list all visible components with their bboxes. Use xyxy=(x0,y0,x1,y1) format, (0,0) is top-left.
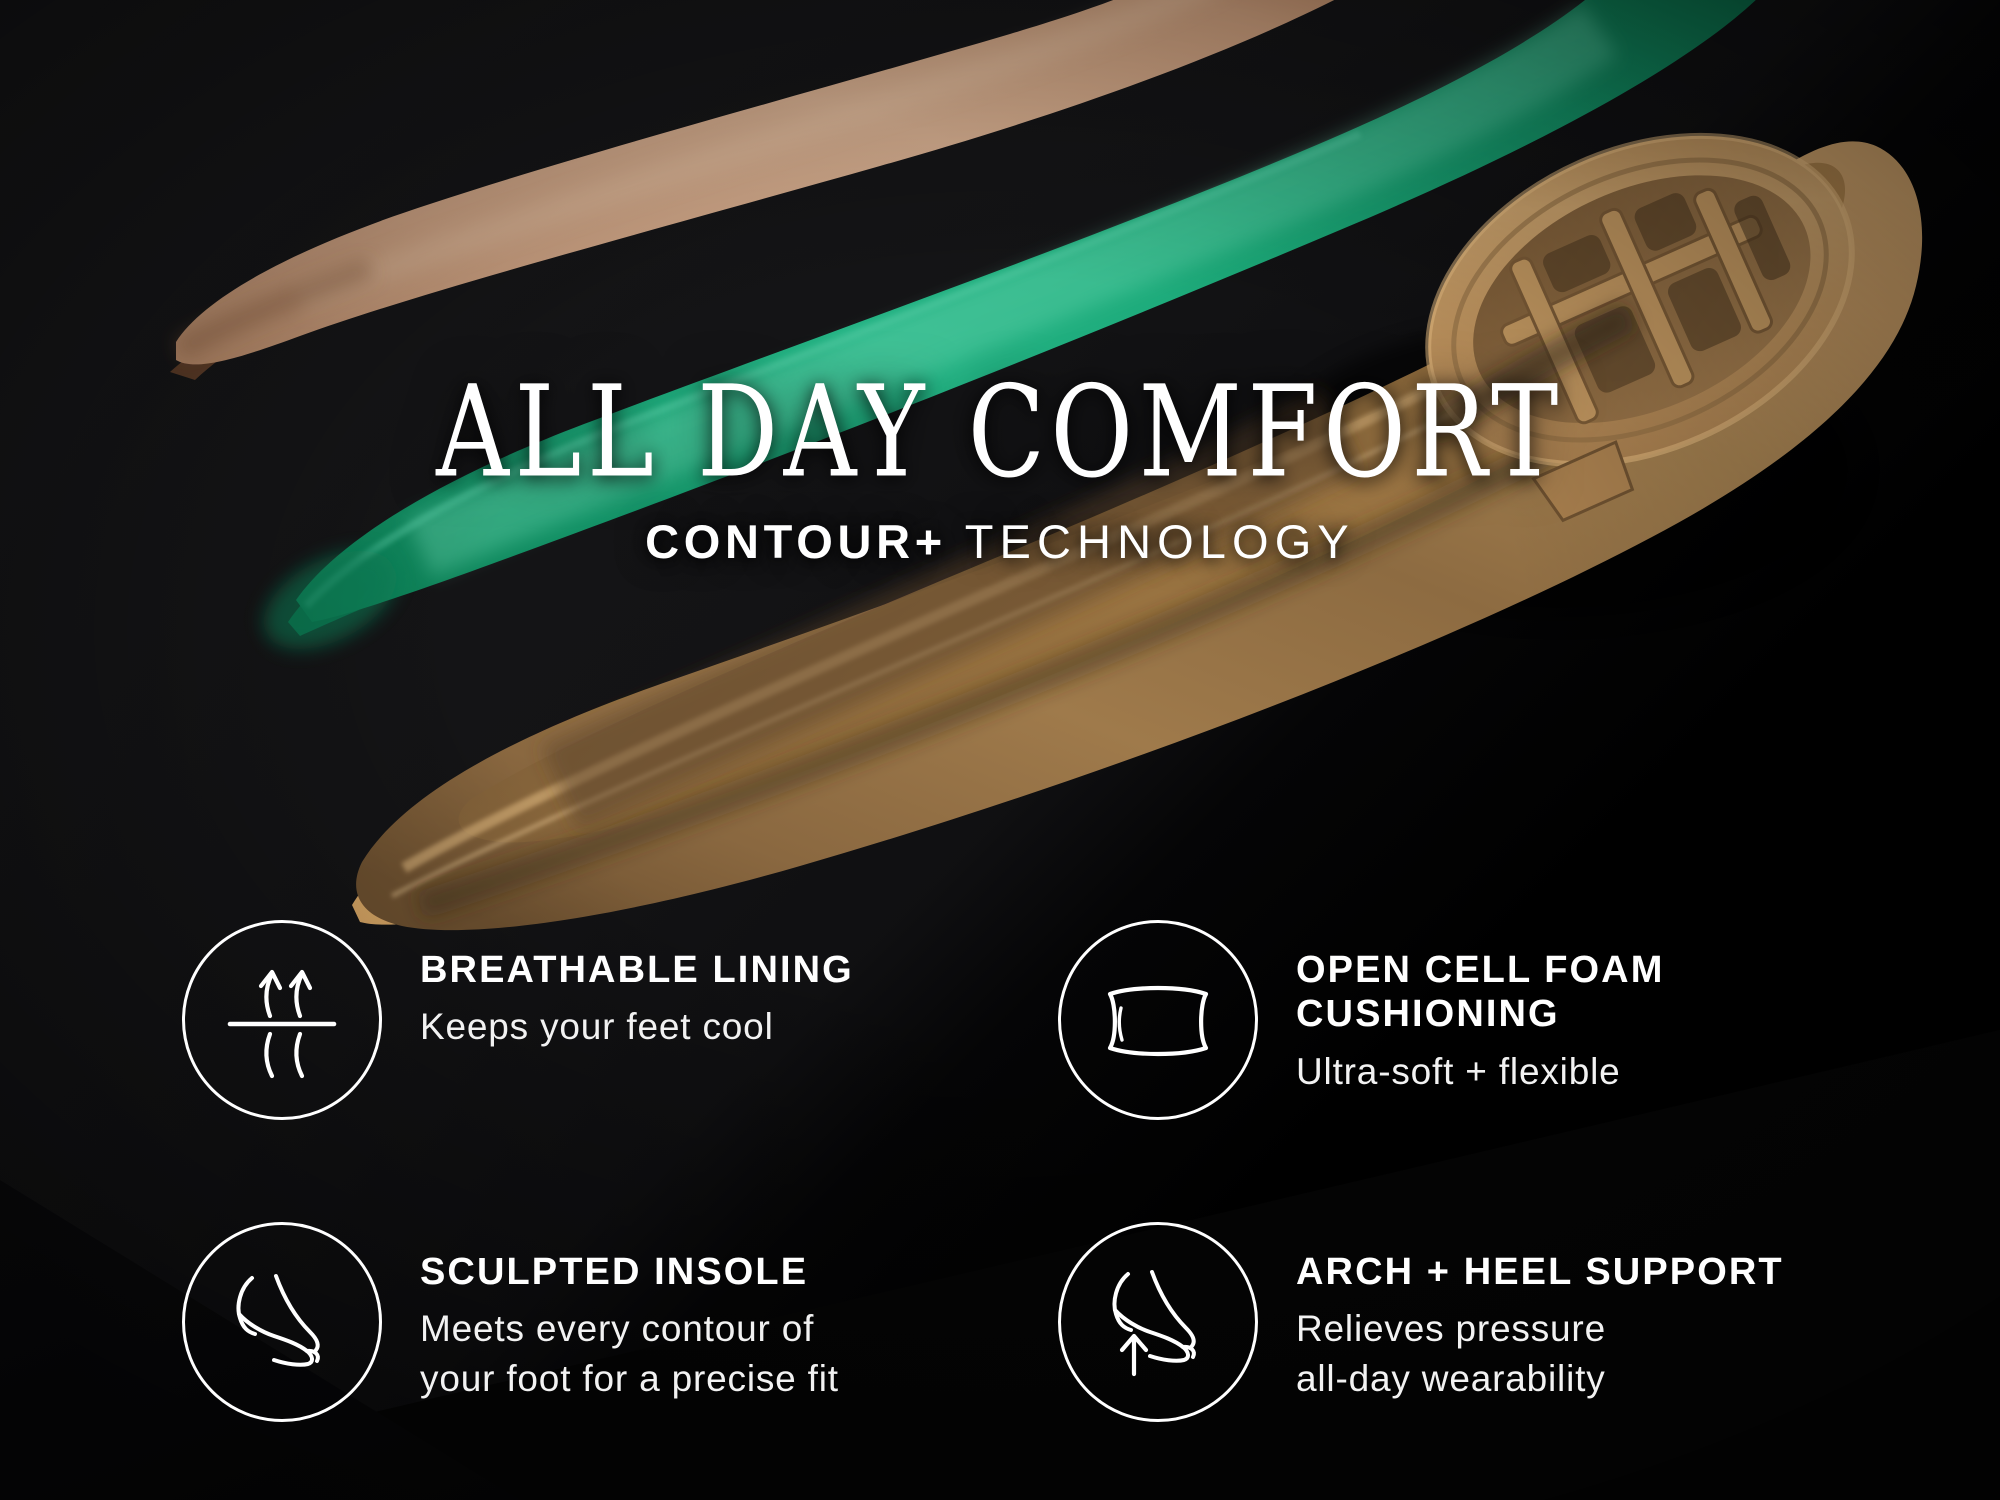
feature-item-arch-heel-support[interactable]: ARCH + HEEL SUPPORT Relieves pressure al… xyxy=(1058,1222,1784,1422)
page-subtitle: CONTOUR+ TECHNOLOGY xyxy=(0,518,2000,565)
feature-text: SCULPTED INSOLE Meets every contour of y… xyxy=(420,1222,839,1403)
feature-text: BREATHABLE LINING Keeps your feet cool xyxy=(420,920,854,1052)
feature-item-open-cell-foam-cushioning[interactable]: OPEN CELL FOAM CUSHIONING Ultra-soft + f… xyxy=(1058,920,1664,1120)
feature-item-sculpted-insole[interactable]: SCULPTED INSOLE Meets every contour of y… xyxy=(182,1222,839,1422)
feature-description: Relieves pressure all-day wearability xyxy=(1296,1304,1784,1402)
feature-title: BREATHABLE LINING xyxy=(420,948,854,992)
feature-title: ARCH + HEEL SUPPORT xyxy=(1296,1250,1784,1294)
subtitle-word-technology: TECHNOLOGY xyxy=(965,515,1355,568)
subtitle-brand: CONTOUR+ xyxy=(645,515,947,568)
feature-text: ARCH + HEEL SUPPORT Relieves pressure al… xyxy=(1296,1222,1784,1403)
feature-title: SCULPTED INSOLE xyxy=(420,1250,839,1294)
page-title: ALL DAY COMFORT xyxy=(30,368,1970,495)
feature-text: OPEN CELL FOAM CUSHIONING Ultra-soft + f… xyxy=(1296,920,1664,1096)
feature-description: Ultra-soft + flexible xyxy=(1296,1047,1664,1096)
cushion-pillow-icon xyxy=(1058,920,1258,1120)
headline-block: ALL DAY COMFORT CONTOUR+ TECHNOLOGY xyxy=(0,368,2000,565)
feature-list: BREATHABLE LINING Keeps your feet cool O… xyxy=(0,912,2000,1500)
feature-title: OPEN CELL FOAM CUSHIONING xyxy=(1296,948,1664,1037)
breathable-airflow-icon xyxy=(182,920,382,1120)
feature-description: Keeps your feet cool xyxy=(420,1002,854,1051)
arch-support-foot-arrow-icon xyxy=(1058,1222,1258,1422)
sculpted-foot-profile-icon xyxy=(182,1222,382,1422)
feature-item-breathable-lining[interactable]: BREATHABLE LINING Keeps your feet cool xyxy=(182,920,854,1120)
infographic-canvas: ALL DAY COMFORT CONTOUR+ TECHNOLOGY xyxy=(0,0,2000,1500)
feature-description: Meets every contour of your foot for a p… xyxy=(420,1304,839,1402)
